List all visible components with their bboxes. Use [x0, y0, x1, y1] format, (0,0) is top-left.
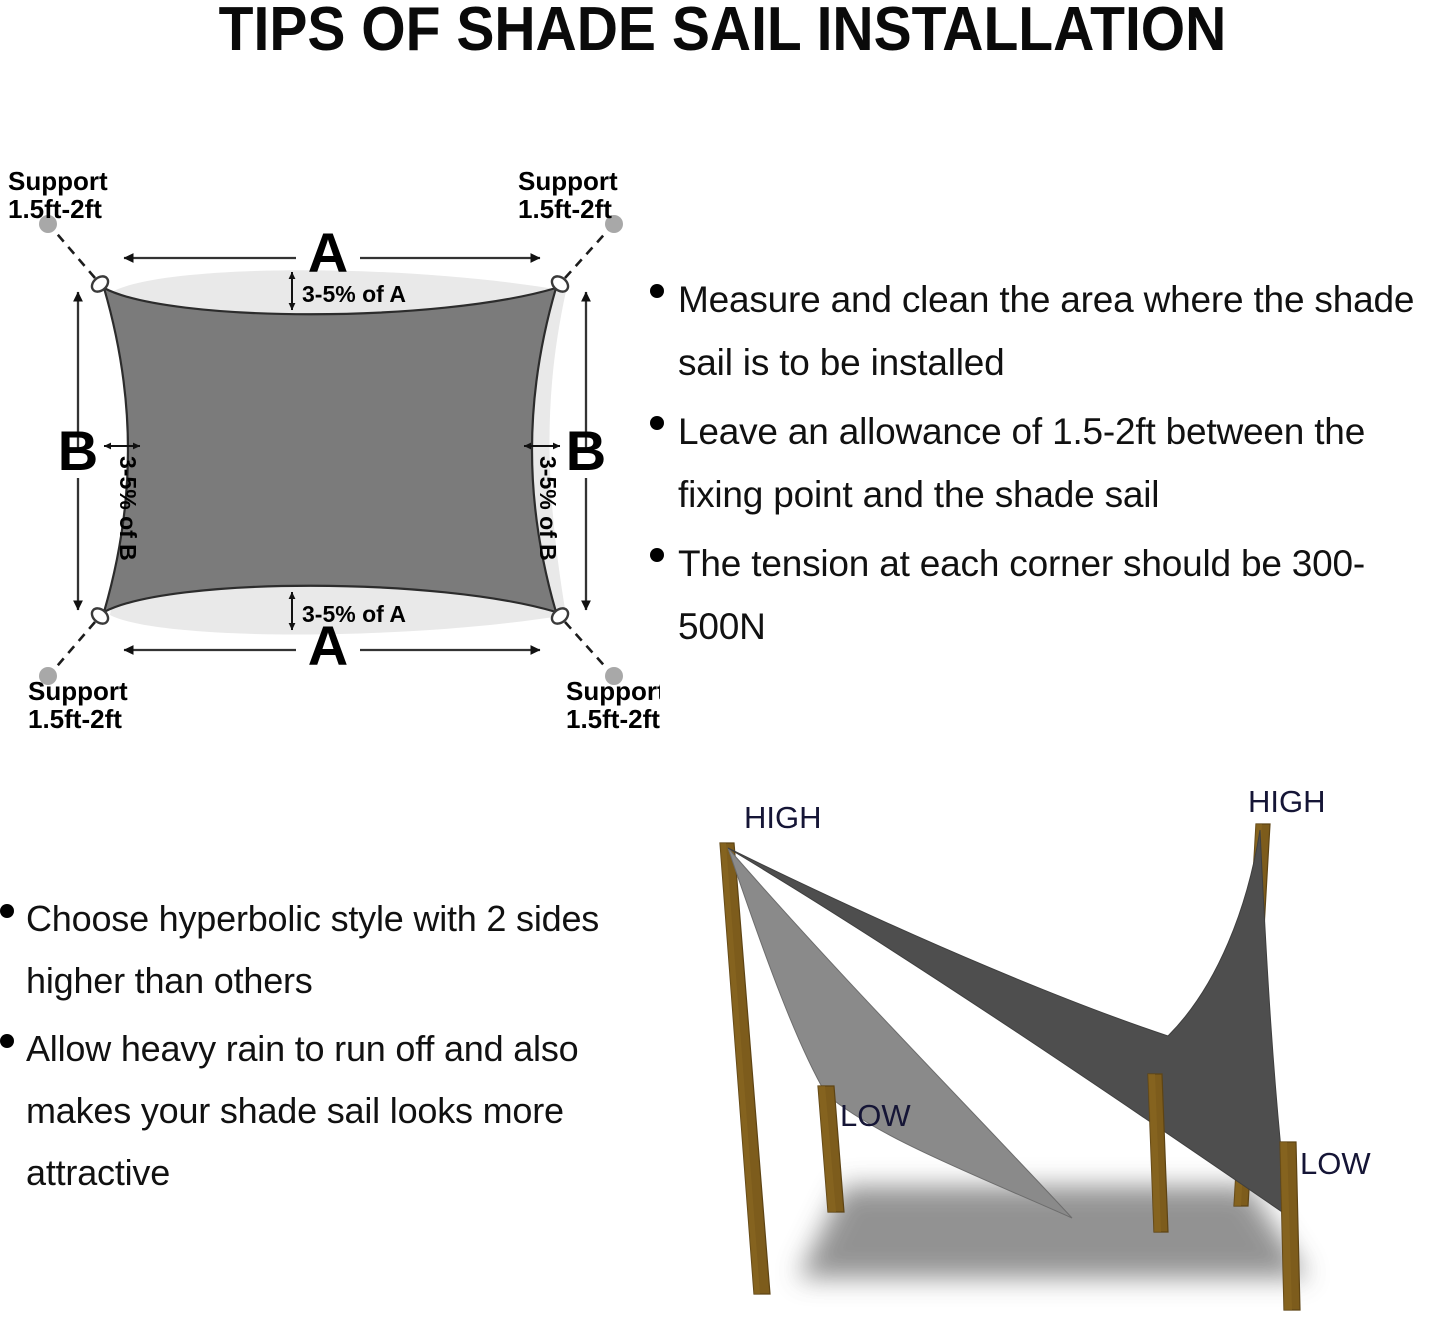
list-item: Leave an allowance of 1.5-2ft between th…	[650, 400, 1445, 526]
bullet-dot-icon	[0, 1034, 14, 1048]
rectangular-sail-diagram: Support 1.5ft-2ft Support 1.5ft-2ft Supp…	[0, 160, 660, 730]
list-item-text: Leave an allowance of 1.5-2ft between th…	[678, 400, 1445, 526]
curve-tolerance-top-label: 3-5% of A	[302, 281, 406, 307]
support-label-line2: 1.5ft-2ft	[518, 194, 612, 224]
dimension-b-right-label: B	[566, 419, 606, 482]
support-label-line1: Support	[566, 676, 660, 706]
list-item: Allow heavy rain to run off and also mak…	[0, 1018, 620, 1204]
page-title: TIPS OF SHADE SAIL INSTALLATION	[58, 0, 1387, 65]
bullet-dot-icon	[0, 904, 14, 918]
shade-sail-shape	[104, 288, 556, 612]
dimension-a-top-label: A	[308, 221, 348, 284]
support-label-line2: 1.5ft-2ft	[566, 704, 660, 730]
support-label-line1: Support	[28, 676, 128, 706]
support-label-top-right: Support 1.5ft-2ft	[518, 166, 618, 224]
list-item: The tension at each corner should be 300…	[650, 532, 1445, 658]
list-item: Measure and clean the area where the sha…	[650, 268, 1445, 394]
dimension-b-right: B	[566, 292, 606, 610]
curve-tolerance-right-label: 3-5% of B	[535, 456, 561, 561]
post-low-right	[1280, 1142, 1300, 1310]
support-label-bottom-right: Support 1.5ft-2ft	[566, 676, 660, 730]
support-label-top-left: Support 1.5ft-2ft	[8, 166, 108, 224]
list-item-text: The tension at each corner should be 300…	[678, 532, 1445, 658]
curve-tolerance-bottom-label: 3-5% of A	[302, 601, 406, 627]
label-low-left: LOW	[840, 1098, 911, 1133]
label-high-right: HIGH	[1248, 786, 1326, 819]
dimension-b-left-label: B	[58, 419, 98, 482]
bullet-dot-icon	[650, 284, 664, 298]
installation-tips-list: Measure and clean the area where the sha…	[650, 268, 1445, 664]
infographic-page: TIPS OF SHADE SAIL INSTALLATION	[0, 0, 1445, 1319]
curve-tolerance-left: 3-5% of B	[104, 446, 141, 561]
support-label-bottom-left: Support 1.5ft-2ft	[28, 676, 128, 730]
dimension-a-top: A	[124, 221, 540, 284]
label-low-right: LOW	[1300, 1146, 1371, 1181]
list-item-text: Allow heavy rain to run off and also mak…	[26, 1018, 620, 1204]
support-label-line1: Support	[8, 166, 108, 196]
bullet-dot-icon	[650, 416, 664, 430]
hyperbolic-tips-list: Choose hyperbolic style with 2 sides hig…	[0, 888, 620, 1210]
curve-tolerance-left-label: 3-5% of B	[115, 456, 141, 561]
hyperbolic-sail-illustration: HIGH HIGH LOW LOW	[648, 786, 1445, 1319]
list-item-text: Measure and clean the area where the sha…	[678, 268, 1445, 394]
support-label-line1: Support	[518, 166, 618, 196]
bullet-dot-icon	[650, 548, 664, 562]
list-item-text: Choose hyperbolic style with 2 sides hig…	[26, 888, 620, 1012]
support-label-line2: 1.5ft-2ft	[8, 194, 102, 224]
dimension-b-left: B	[58, 292, 98, 610]
support-label-line2: 1.5ft-2ft	[28, 704, 122, 730]
list-item: Choose hyperbolic style with 2 sides hig…	[0, 888, 620, 1012]
label-high-left: HIGH	[744, 800, 822, 835]
